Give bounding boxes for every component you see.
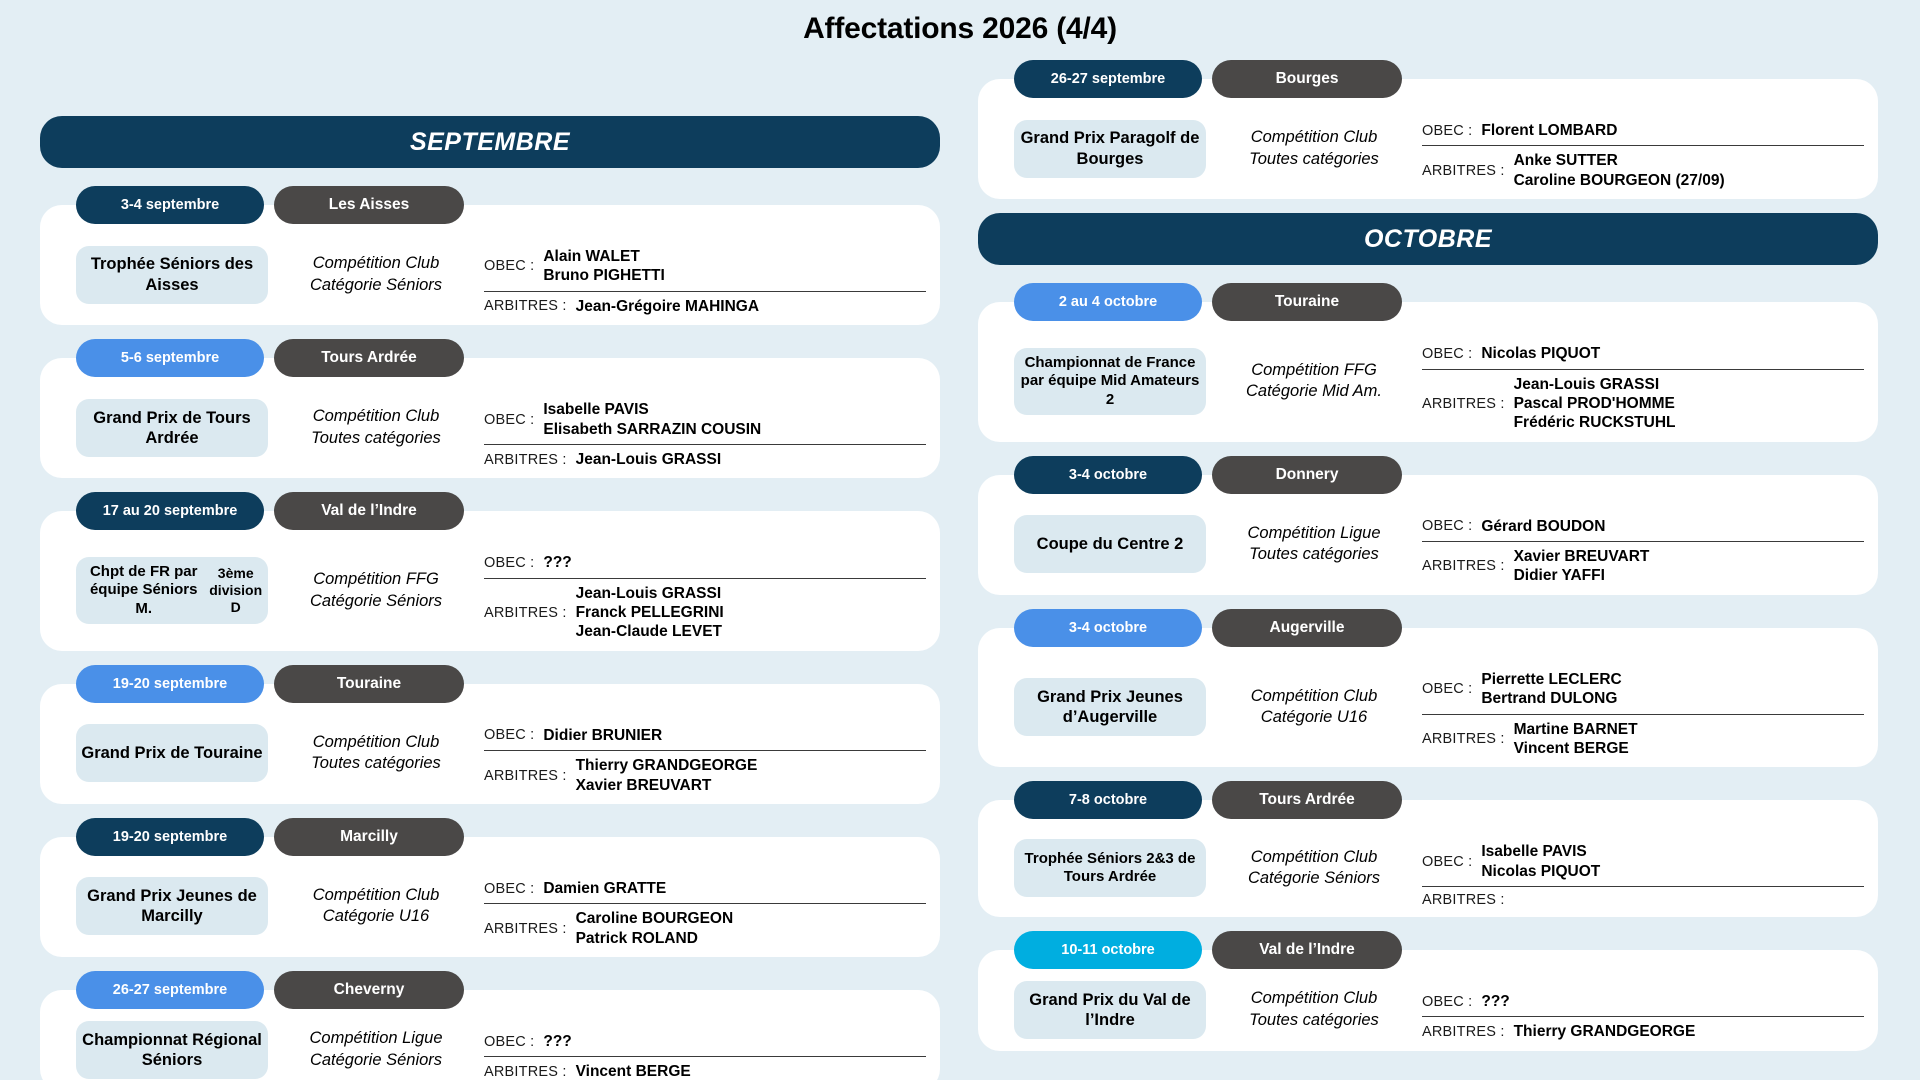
- obec-name: Nicolas PIQUOT: [1481, 344, 1600, 363]
- obec-label: OBEC :: [1422, 681, 1481, 697]
- obec-label: OBEC :: [484, 258, 543, 274]
- venue-badge[interactable]: Touraine: [274, 665, 464, 703]
- event-name-main: Grand Prix du Val de l’Indre: [1018, 990, 1202, 1030]
- event-name-sub: 3ème division D: [207, 565, 264, 616]
- obec-label: OBEC :: [1422, 346, 1481, 362]
- venue-badge[interactable]: Tours Ardrée: [1212, 781, 1402, 819]
- event-competition: Compétition LigueToutes catégories: [1216, 523, 1412, 566]
- event-name: Coupe du Centre 2: [1014, 515, 1206, 573]
- event-officials: OBEC :Nicolas PIQUOTARBITRES :Jean-Louis…: [1422, 325, 1864, 438]
- obec-name: Bertrand DULONG: [1481, 689, 1621, 708]
- event-officials: OBEC :Pierrette LECLERCBertrand DULONGAR…: [1422, 651, 1864, 764]
- competition-category: Toutes catégories: [278, 428, 474, 449]
- obec-row: OBEC :???: [1422, 987, 1864, 1017]
- event-name-main: Coupe du Centre 2: [1037, 534, 1184, 554]
- obec-names: Alain WALETBruno PIGHETTI: [543, 247, 664, 286]
- date-badge[interactable]: 2 au 4 octobre: [1014, 283, 1202, 321]
- event-card-inner: Trophée Séniors des AissesCompétition Cl…: [44, 209, 926, 321]
- date-badge[interactable]: 3-4 octobre: [1014, 609, 1202, 647]
- month-label: OCTOBRE: [1364, 225, 1492, 254]
- event-name: Grand Prix de Tours Ardrée: [76, 399, 268, 457]
- arbitres-label: ARBITRES :: [484, 768, 576, 784]
- event-name-main: Trophée Séniors des Aisses: [80, 254, 264, 294]
- obec-names: Pierrette LECLERCBertrand DULONG: [1481, 670, 1621, 709]
- competition-type: Compétition Club: [1216, 127, 1412, 148]
- obec-label: OBEC :: [1422, 518, 1481, 534]
- arbitres-name: Martine BARNET: [1514, 720, 1638, 739]
- competition-type: Compétition Club: [278, 406, 474, 427]
- competition-type: Compétition Club: [1216, 847, 1412, 868]
- event-block: 17 au 20 septembreVal de l’IndreChpt de …: [40, 492, 940, 651]
- obec-name: Bruno PIGHETTI: [543, 266, 664, 285]
- event-card-inner: Grand Prix de TouraineCompétition ClubTo…: [44, 688, 926, 800]
- arbitres-label: ARBITRES :: [484, 921, 576, 937]
- event-badges: 19-20 septembreTouraine: [40, 665, 940, 703]
- event-card-inner: Championnat de France par équipe Mid Ama…: [982, 306, 1864, 438]
- event-card-inner: Grand Prix de Tours ArdréeCompétition Cl…: [44, 362, 926, 474]
- event-competition: Compétition ClubCatégorie Séniors: [1216, 847, 1412, 890]
- event-officials: OBEC :Gérard BOUDONARBITRES :Xavier BREU…: [1422, 498, 1864, 591]
- event-name: Grand Prix Paragolf de Bourges: [1014, 120, 1206, 178]
- obec-row: OBEC :Damien GRATTE: [484, 874, 926, 904]
- event-competition: Compétition ClubToutes catégories: [1216, 988, 1412, 1031]
- arbitres-label: ARBITRES :: [1422, 892, 1514, 908]
- arbitres-row: ARBITRES :Jean-Louis GRASSI: [484, 445, 926, 474]
- venue-badge[interactable]: Cheverny: [274, 971, 464, 1009]
- arbitres-label: ARBITRES :: [1422, 163, 1514, 179]
- event-badges: 3-4 octobreDonnery: [978, 456, 1878, 494]
- event-block: 5-6 septembreTours ArdréeGrand Prix de T…: [40, 339, 940, 478]
- date-badge[interactable]: 5-6 septembre: [76, 339, 264, 377]
- arbitres-row: ARBITRES :Thierry GRANDGEORGE: [1422, 1017, 1864, 1046]
- arbitres-name: Jean-Louis GRASSI: [576, 450, 722, 469]
- event-name: Championnat de France par équipe Mid Ama…: [1014, 348, 1206, 415]
- obec-name: Didier BRUNIER: [543, 726, 662, 745]
- obec-names: Gérard BOUDON: [1481, 517, 1605, 536]
- arbitres-names: Jean-Louis GRASSIFranck PELLEGRINIJean-C…: [576, 584, 724, 642]
- competition-category: Toutes catégories: [1216, 1010, 1412, 1031]
- event-officials: OBEC :???ARBITRES :Jean-Louis GRASSIFran…: [484, 534, 926, 647]
- arbitres-name: Pascal PROD'HOMME: [1514, 394, 1676, 413]
- event-badges: 2 au 4 octobreTouraine: [978, 283, 1878, 321]
- arbitres-name: Vincent BERGE: [576, 1062, 691, 1080]
- event-name: Trophée Séniors 2&3 de Tours Ardrée: [1014, 839, 1206, 897]
- event-block: 3-4 octobreDonneryCoupe du Centre 2Compé…: [978, 456, 1878, 595]
- event-badges: 5-6 septembreTours Ardrée: [40, 339, 940, 377]
- arbitres-name: Jean-Claude LEVET: [576, 622, 724, 641]
- event-card-inner: Grand Prix Jeunes d’AugervilleCompétitio…: [982, 632, 1864, 764]
- obec-name: Damien GRATTE: [543, 879, 666, 898]
- event-name-main: Trophée Séniors 2&3 de Tours Ardrée: [1018, 850, 1202, 887]
- event-name: Grand Prix Jeunes d’Augerville: [1014, 678, 1206, 736]
- competition-category: Toutes catégories: [1216, 544, 1412, 565]
- date-badge[interactable]: 3-4 octobre: [1014, 456, 1202, 494]
- event-competition: Compétition FFGCatégorie Mid Am.: [1216, 360, 1412, 403]
- arbitres-label: ARBITRES :: [484, 298, 576, 314]
- page-title: Affectations 2026 (4/4): [0, 0, 1920, 46]
- event-officials: OBEC :Isabelle PAVISElisabeth SARRAZIN C…: [484, 381, 926, 474]
- event-competition: Compétition LigueCatégorie Séniors: [278, 1028, 474, 1071]
- event-block: 2 au 4 octobreTouraineChampionnat de Fra…: [978, 283, 1878, 442]
- arbitres-row: ARBITRES :: [1422, 887, 1864, 913]
- arbitres-names: Jean-Louis GRASSIPascal PROD'HOMMEFrédér…: [1514, 375, 1676, 433]
- obec-names: Florent LOMBARD: [1481, 121, 1617, 140]
- arbitres-name: Xavier BREUVART: [576, 776, 758, 795]
- obec-row: OBEC :???: [484, 1027, 926, 1057]
- arbitres-name: Vincent BERGE: [1514, 739, 1638, 758]
- event-block: 26-27 septembreBourgesGrand Prix Paragol…: [978, 60, 1878, 199]
- event-competition: Compétition ClubCatégorie Séniors: [278, 253, 474, 296]
- obec-name: Florent LOMBARD: [1481, 121, 1617, 140]
- event-badges: 26-27 septembreCheverny: [40, 971, 940, 1009]
- event-name: Grand Prix du Val de l’Indre: [1014, 981, 1206, 1039]
- competition-category: Catégorie U16: [1216, 707, 1412, 728]
- competition-type: Compétition Ligue: [1216, 523, 1412, 544]
- arbitres-name: Caroline BOURGEON (27/09): [1514, 171, 1725, 190]
- obec-names: ???: [543, 553, 571, 572]
- date-badge[interactable]: 3-4 septembre: [76, 186, 264, 224]
- competition-category: Catégorie Séniors: [278, 591, 474, 612]
- competition-type: Compétition Club: [1216, 988, 1412, 1009]
- arbitres-name: Anke SUTTER: [1514, 151, 1725, 170]
- event-block: 19-20 septembreTouraineGrand Prix de Tou…: [40, 665, 940, 804]
- event-badges: 17 au 20 septembreVal de l’Indre: [40, 492, 940, 530]
- event-card: Chpt de FR par équipe Séniors M.3ème div…: [40, 511, 940, 651]
- venue-badge[interactable]: Touraine: [1212, 283, 1402, 321]
- event-name-main: Grand Prix de Touraine: [81, 743, 262, 763]
- event-card-inner: Chpt de FR par équipe Séniors M.3ème div…: [44, 515, 926, 647]
- competition-category: Catégorie Séniors: [1216, 868, 1412, 889]
- arbitres-names: Martine BARNETVincent BERGE: [1514, 720, 1638, 759]
- column-october: 26-27 septembreBourgesGrand Prix Paragol…: [978, 60, 1878, 1080]
- obec-name: Pierrette LECLERC: [1481, 670, 1621, 689]
- event-competition: Compétition ClubToutes catégories: [1216, 127, 1412, 170]
- event-name: Grand Prix Jeunes de Marcilly: [76, 877, 268, 935]
- event-block: 19-20 septembreMarcillyGrand Prix Jeunes…: [40, 818, 940, 957]
- obec-row: OBEC :Pierrette LECLERCBertrand DULONG: [1422, 665, 1864, 715]
- obec-name: Alain WALET: [543, 247, 664, 266]
- date-badge[interactable]: 19-20 septembre: [76, 665, 264, 703]
- competition-category: Catégorie U16: [278, 906, 474, 927]
- date-badge[interactable]: 7-8 octobre: [1014, 781, 1202, 819]
- arbitres-label: ARBITRES :: [1422, 731, 1514, 747]
- event-name: Chpt de FR par équipe Séniors M.3ème div…: [76, 557, 268, 624]
- competition-type: Compétition Club: [1216, 686, 1412, 707]
- event-competition: Compétition ClubToutes catégories: [278, 406, 474, 449]
- obec-names: Damien GRATTE: [543, 879, 666, 898]
- obec-row: OBEC :Isabelle PAVISNicolas PIQUOT: [1422, 837, 1864, 887]
- arbitres-name: Jean-Louis GRASSI: [1514, 375, 1676, 394]
- obec-name: ???: [1481, 992, 1509, 1011]
- arbitres-row: ARBITRES :Martine BARNETVincent BERGE: [1422, 715, 1864, 764]
- date-badge[interactable]: 10-11 octobre: [1014, 931, 1202, 969]
- competition-type: Compétition Club: [278, 253, 474, 274]
- arbitres-name: Thierry GRANDGEORGE: [576, 756, 758, 775]
- obec-row: OBEC :???: [484, 548, 926, 578]
- venue-badge[interactable]: Val de l’Indre: [274, 492, 464, 530]
- arbitres-name: Patrick ROLAND: [576, 929, 734, 948]
- event-badges: 26-27 septembreBourges: [978, 60, 1878, 98]
- event-competition: Compétition FFGCatégorie Séniors: [278, 569, 474, 612]
- arbitres-row: ARBITRES :Jean-Louis GRASSIFranck PELLEG…: [484, 579, 926, 647]
- competition-type: Compétition FFG: [1216, 360, 1412, 381]
- event-badges: 19-20 septembreMarcilly: [40, 818, 940, 856]
- arbitres-row: ARBITRES :Jean-Louis GRASSIPascal PROD'H…: [1422, 370, 1864, 438]
- obec-row: OBEC :Didier BRUNIER: [484, 721, 926, 751]
- event-competition: Compétition ClubToutes catégories: [278, 732, 474, 775]
- obec-name: Isabelle PAVIS: [543, 400, 761, 419]
- competition-category: Catégorie Séniors: [278, 1050, 474, 1071]
- arbitres-row: ARBITRES :Xavier BREUVARTDidier YAFFI: [1422, 542, 1864, 591]
- event-card: Championnat de France par équipe Mid Ama…: [978, 302, 1878, 442]
- obec-label: OBEC :: [1422, 854, 1481, 870]
- obec-names: ???: [543, 1032, 571, 1051]
- event-officials: OBEC :Florent LOMBARDARBITRES :Anke SUTT…: [1422, 102, 1864, 195]
- arbitres-names: Jean-Louis GRASSI: [576, 450, 722, 469]
- arbitres-label: ARBITRES :: [484, 605, 576, 621]
- obec-label: OBEC :: [484, 555, 543, 571]
- event-officials: OBEC :???ARBITRES :Thierry GRANDGEORGE: [1422, 973, 1864, 1047]
- event-officials: OBEC :Didier BRUNIERARBITRES :Thierry GR…: [484, 707, 926, 800]
- arbitres-names: Xavier BREUVARTDidier YAFFI: [1514, 547, 1650, 586]
- obec-name: Gérard BOUDON: [1481, 517, 1605, 536]
- event-card-inner: Trophée Séniors 2&3 de Tours ArdréeCompé…: [982, 804, 1864, 913]
- obec-label: OBEC :: [484, 881, 543, 897]
- obec-name: ???: [543, 553, 571, 572]
- arbitres-row: ARBITRES :Anke SUTTERCaroline BOURGEON (…: [1422, 146, 1864, 195]
- event-name-main: Grand Prix Jeunes de Marcilly: [80, 886, 264, 926]
- event-name-main: Championnat Régional Séniors: [80, 1030, 264, 1070]
- event-officials: OBEC :Alain WALETBruno PIGHETTIARBITRES …: [484, 228, 926, 321]
- event-name-main: Grand Prix de Tours Ardrée: [80, 408, 264, 448]
- event-card-inner: Grand Prix Paragolf de BourgesCompétitio…: [982, 83, 1864, 195]
- obec-label: OBEC :: [1422, 994, 1481, 1010]
- event-block: 7-8 octobreTours ArdréeTrophée Séniors 2…: [978, 781, 1878, 917]
- event-competition: Compétition ClubCatégorie U16: [1216, 686, 1412, 729]
- venue-badge[interactable]: Val de l’Indre: [1212, 931, 1402, 969]
- obec-label: OBEC :: [484, 727, 543, 743]
- event-name: Championnat Régional Séniors: [76, 1021, 268, 1079]
- arbitres-names: Anke SUTTERCaroline BOURGEON (27/09): [1514, 151, 1725, 190]
- date-badge[interactable]: 26-27 septembre: [76, 971, 264, 1009]
- venue-badge[interactable]: Marcilly: [274, 818, 464, 856]
- event-name-main: Grand Prix Jeunes d’Augerville: [1018, 687, 1202, 727]
- obec-name: Nicolas PIQUOT: [1481, 862, 1600, 881]
- date-badge[interactable]: 19-20 septembre: [76, 818, 264, 856]
- arbitres-name: Franck PELLEGRINI: [576, 603, 724, 622]
- obec-names: Isabelle PAVISNicolas PIQUOT: [1481, 842, 1600, 881]
- event-name: Trophée Séniors des Aisses: [76, 246, 268, 304]
- venue-badge[interactable]: Tours Ardrée: [274, 339, 464, 377]
- month-banner: SEPTEMBRE: [40, 116, 940, 168]
- competition-category: Toutes catégories: [278, 753, 474, 774]
- affectations-page: Affectations 2026 (4/4) SEPTEMBRE3-4 sep…: [0, 0, 1920, 1080]
- arbitres-label: ARBITRES :: [1422, 396, 1514, 412]
- obec-row: OBEC :Florent LOMBARD: [1422, 116, 1864, 146]
- event-officials: OBEC :Damien GRATTEARBITRES :Caroline BO…: [484, 860, 926, 953]
- arbitres-name: Thierry GRANDGEORGE: [1514, 1022, 1696, 1041]
- event-block: 26-27 septembreChevernyChampionnat Régio…: [40, 971, 940, 1080]
- column-september: SEPTEMBRE3-4 septembreLes AissesTrophée …: [40, 60, 940, 1080]
- obec-name: Elisabeth SARRAZIN COUSIN: [543, 420, 761, 439]
- competition-type: Compétition Club: [278, 732, 474, 753]
- date-badge[interactable]: 26-27 septembre: [1014, 60, 1202, 98]
- event-name-main: Chpt de FR par équipe Séniors M.: [80, 563, 207, 618]
- obec-names: Nicolas PIQUOT: [1481, 344, 1600, 363]
- event-badges: 7-8 octobreTours Ardrée: [978, 781, 1878, 819]
- event-card: Grand Prix Jeunes d’AugervilleCompétitio…: [978, 628, 1878, 768]
- arbitres-name: Frédéric RUCKSTUHL: [1514, 413, 1676, 432]
- venue-badge[interactable]: Donnery: [1212, 456, 1402, 494]
- obec-name: ???: [543, 1032, 571, 1051]
- event-competition: Compétition ClubCatégorie U16: [278, 885, 474, 928]
- arbitres-name: Jean-Louis GRASSI: [576, 584, 724, 603]
- event-block: 10-11 octobreVal de l’IndreGrand Prix du…: [978, 931, 1878, 1051]
- arbitres-row: ARBITRES :Jean-Grégoire MAHINGA: [484, 292, 926, 321]
- venue-badge[interactable]: Les Aisses: [274, 186, 464, 224]
- obec-names: ???: [1481, 992, 1509, 1011]
- competition-type: Compétition Ligue: [278, 1028, 474, 1049]
- obec-name: Isabelle PAVIS: [1481, 842, 1600, 861]
- arbitres-name: Jean-Grégoire MAHINGA: [576, 297, 759, 316]
- columns-container: SEPTEMBRE3-4 septembreLes AissesTrophée …: [0, 46, 1920, 1080]
- event-badges: 3-4 octobreAugerville: [978, 609, 1878, 647]
- month-label: SEPTEMBRE: [410, 128, 570, 157]
- month-banner: OCTOBRE: [978, 213, 1878, 265]
- event-name-main: Championnat de France par équipe Mid Ama…: [1018, 354, 1202, 409]
- arbitres-label: ARBITRES :: [1422, 1024, 1514, 1040]
- arbitres-label: ARBITRES :: [484, 452, 576, 468]
- arbitres-row: ARBITRES :Caroline BOURGEONPatrick ROLAN…: [484, 904, 926, 953]
- event-card-inner: Coupe du Centre 2Compétition LigueToutes…: [982, 479, 1864, 591]
- obec-label: OBEC :: [484, 412, 543, 428]
- event-name: Grand Prix de Touraine: [76, 724, 268, 782]
- arbitres-names: Vincent BERGE: [576, 1062, 691, 1080]
- event-badges: 3-4 septembreLes Aisses: [40, 186, 940, 224]
- event-block: 3-4 octobreAugervilleGrand Prix Jeunes d…: [978, 609, 1878, 768]
- obec-names: Didier BRUNIER: [543, 726, 662, 745]
- date-badge[interactable]: 17 au 20 septembre: [76, 492, 264, 530]
- arbitres-label: ARBITRES :: [1422, 558, 1514, 574]
- competition-category: Catégorie Mid Am.: [1216, 381, 1412, 402]
- arbitres-names: Jean-Grégoire MAHINGA: [576, 297, 759, 316]
- arbitres-label: ARBITRES :: [484, 1064, 576, 1080]
- obec-label: OBEC :: [1422, 123, 1481, 139]
- arbitres-names: Caroline BOURGEONPatrick ROLAND: [576, 909, 734, 948]
- arbitres-name: Didier YAFFI: [1514, 566, 1650, 585]
- venue-badge[interactable]: Bourges: [1212, 60, 1402, 98]
- obec-names: Isabelle PAVISElisabeth SARRAZIN COUSIN: [543, 400, 761, 439]
- obec-row: OBEC :Gérard BOUDON: [1422, 512, 1864, 542]
- competition-type: Compétition FFG: [278, 569, 474, 590]
- competition-category: Toutes catégories: [1216, 149, 1412, 170]
- competition-category: Catégorie Séniors: [278, 275, 474, 296]
- arbitres-row: ARBITRES :Thierry GRANDGEORGEXavier BREU…: [484, 751, 926, 800]
- obec-row: OBEC :Isabelle PAVISElisabeth SARRAZIN C…: [484, 395, 926, 445]
- arbitres-name: Caroline BOURGEON: [576, 909, 734, 928]
- obec-label: OBEC :: [484, 1034, 543, 1050]
- competition-type: Compétition Club: [278, 885, 474, 906]
- event-name-main: Grand Prix Paragolf de Bourges: [1018, 128, 1202, 168]
- obec-row: OBEC :Nicolas PIQUOT: [1422, 339, 1864, 369]
- event-block: 3-4 septembreLes AissesTrophée Séniors d…: [40, 186, 940, 325]
- event-badges: 10-11 octobreVal de l’Indre: [978, 931, 1878, 969]
- event-card-inner: Grand Prix Jeunes de MarcillyCompétition…: [44, 841, 926, 953]
- arbitres-names: Thierry GRANDGEORGEXavier BREUVART: [576, 756, 758, 795]
- arbitres-names: Thierry GRANDGEORGE: [1514, 1022, 1696, 1041]
- venue-badge[interactable]: Augerville: [1212, 609, 1402, 647]
- event-officials: OBEC :???ARBITRES :Vincent BERGE: [484, 1013, 926, 1080]
- obec-row: OBEC :Alain WALETBruno PIGHETTI: [484, 242, 926, 292]
- arbitres-name: Xavier BREUVART: [1514, 547, 1650, 566]
- arbitres-row: ARBITRES :Vincent BERGE: [484, 1057, 926, 1080]
- event-officials: OBEC :Isabelle PAVISNicolas PIQUOTARBITR…: [1422, 823, 1864, 913]
